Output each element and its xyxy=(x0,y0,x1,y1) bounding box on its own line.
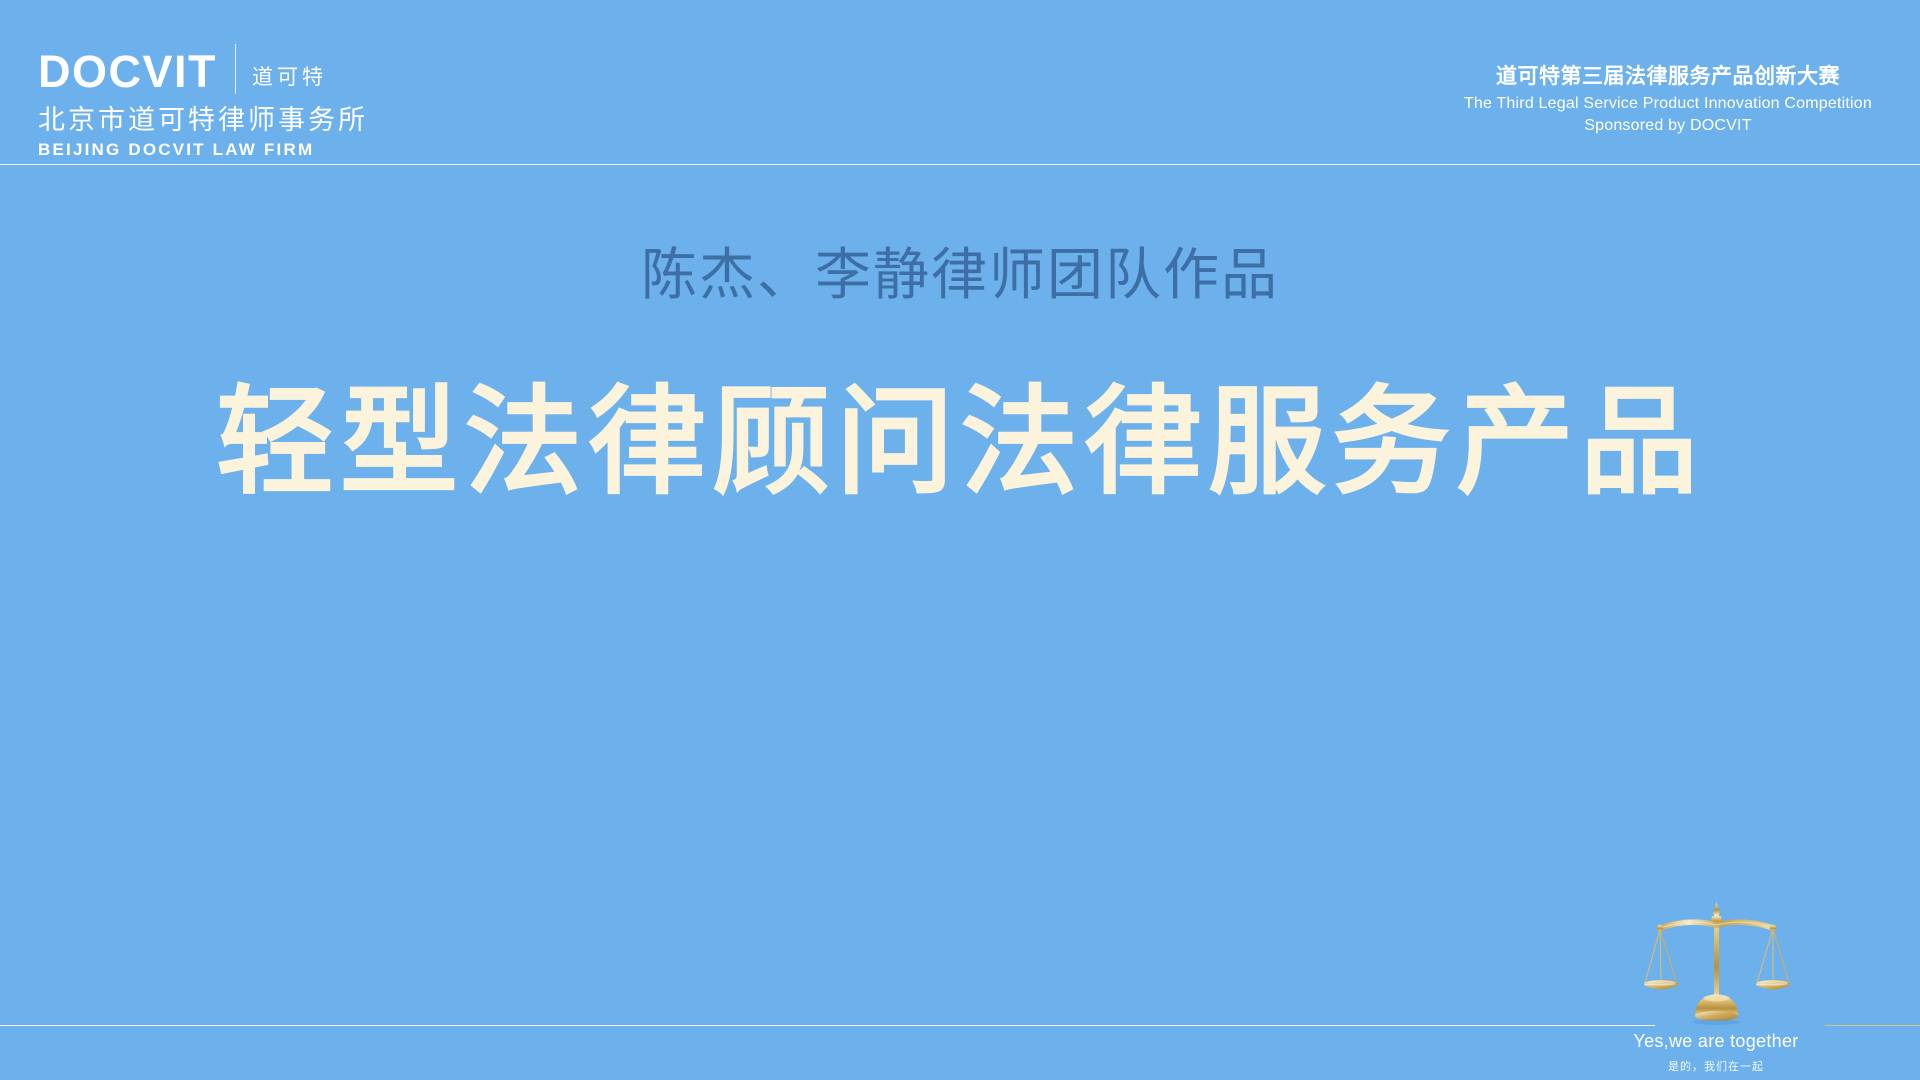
firm-name-english: BEIJING DOCVIT LAW FIRM xyxy=(38,141,368,158)
scales-of-justice-icon xyxy=(1644,898,1789,1028)
team-credit: 陈杰、李静律师团队作品 xyxy=(0,245,1920,307)
docvit-chinese-mark: 道可特 xyxy=(252,67,327,94)
firm-name-chinese: 北京市道可特律师事务所 xyxy=(38,107,368,135)
docvit-logo-block: DOCVIT 道可特 北京市道可特律师事务所 BEIJING DOCVIT LA… xyxy=(38,44,368,158)
competition-title-chinese: 道可特第三届法律服务产品创新大赛 xyxy=(1464,63,1872,89)
logo-vertical-divider xyxy=(235,44,236,94)
slide-header: DOCVIT 道可特 北京市道可特律师事务所 BEIJING DOCVIT LA… xyxy=(0,0,1920,165)
tagline-chinese: 是的，我们在一起 xyxy=(1566,1061,1866,1072)
page-title: 轻型法律顾问法律服务产品 xyxy=(0,379,1920,506)
footer-brand-mark: Yes,we are together 是的，我们在一起 xyxy=(1566,898,1866,1072)
competition-sponsor: Sponsored by DOCVIT xyxy=(1464,115,1872,137)
competition-block: 道可特第三届法律服务产品创新大赛 The Third Legal Service… xyxy=(1464,63,1872,136)
footer-divider-left xyxy=(0,1025,1655,1026)
logo-primary-row: DOCVIT 道可特 xyxy=(38,44,368,94)
competition-title-english: The Third Legal Service Product Innovati… xyxy=(1464,93,1872,115)
tagline-english: Yes,we are together xyxy=(1623,1032,1808,1050)
docvit-wordmark: DOCVIT xyxy=(38,49,217,94)
